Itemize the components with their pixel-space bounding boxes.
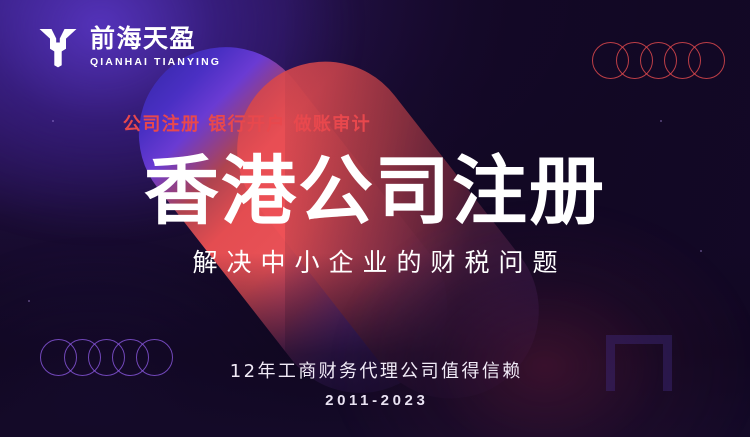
footer-years: 2011-2023: [0, 392, 750, 409]
hero-headline: 香港公司注册: [0, 154, 750, 229]
footer-tagline: 12年工商财务代理公司值得信赖: [0, 357, 750, 383]
hero-subline: 解决中小企业的财税问题: [0, 250, 750, 275]
promo-banner: 前海天盈 QIANHAI TIANYING 公司注册 银行开户 做账审计 香港公…: [0, 0, 750, 437]
hero-content: 公司注册 银行开户 做账审计 香港公司注册 解决中小企业的财税问题 12年工商财…: [0, 0, 750, 437]
hero-kicker: 公司注册 银行开户 做账审计: [0, 110, 622, 136]
